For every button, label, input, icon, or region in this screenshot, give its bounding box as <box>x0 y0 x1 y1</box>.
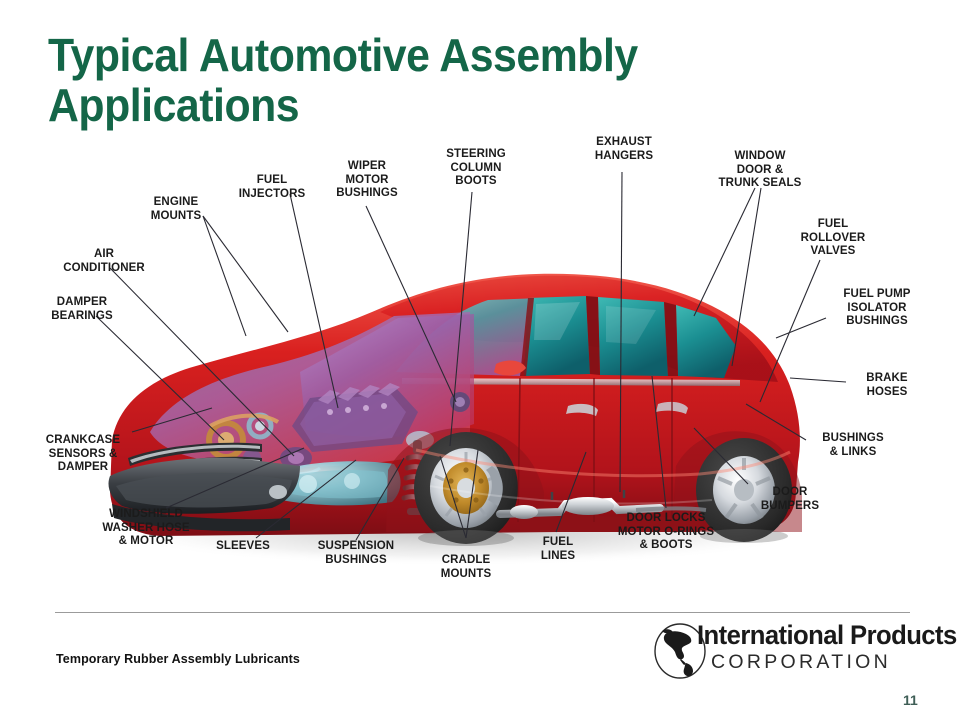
callout-steering-column-boots: STEERING COLUMN BOOTS <box>428 148 524 189</box>
callout-fuel-lines: FUEL LINES <box>528 536 588 563</box>
callout-suspension-bushings: SUSPENSION BUSHINGS <box>306 540 406 567</box>
logo-company-subtitle: CORPORATION <box>711 651 923 673</box>
company-logo: International Products CORPORATION <box>653 620 921 682</box>
callout-air-conditioner: AIR CONDITIONER <box>50 248 158 275</box>
page-number: 11 <box>903 692 918 708</box>
callout-crankcase-sensors-damper: CRANKCASE SENSORS & DAMPER <box>32 434 134 475</box>
callout-fuel-pump-isolator-bushings: FUEL PUMP ISOLATOR BUSHINGS <box>826 288 928 329</box>
callout-windshield-washer-hose-motor: WINDSHIELD WASHER HOSE & MOTOR <box>86 508 206 549</box>
logo-company-name: International Products <box>697 620 912 650</box>
footer-divider <box>55 612 910 613</box>
callout-exhaust-hangers: EXHAUST HANGERS <box>578 136 670 163</box>
fog-lamp <box>269 485 287 499</box>
callout-brake-hoses: BRAKE HOSES <box>848 372 926 399</box>
resonator <box>510 505 538 519</box>
callout-window-door-trunk-seals: WINDOW DOOR & TRUNK SEALS <box>700 150 820 191</box>
callout-door-locks-motor-orings-boots: DOOR LOCKS MOTOR O-RINGS & BOOTS <box>598 512 734 553</box>
callout-door-bumpers: DOOR BUMPERS <box>750 486 830 513</box>
callout-sleeves: SLEEVES <box>206 540 280 554</box>
logo-wordmark: International Products CORPORATION <box>697 620 923 673</box>
callout-engine-mounts: ENGINE MOUNTS <box>136 196 216 223</box>
callout-bushings-links: BUSHINGS & LINKS <box>808 432 898 459</box>
front-wheel <box>414 432 518 544</box>
callout-fuel-rollover-valves: FUEL ROLLOVER VALVES <box>790 218 876 259</box>
callout-cradle-mounts: CRADLE MOUNTS <box>426 554 506 581</box>
callout-damper-bearings: DAMPER BEARINGS <box>38 296 126 323</box>
callout-fuel-injectors: FUEL INJECTORS <box>224 174 320 201</box>
callout-wiper-motor-bushings: WIPER MOTOR BUSHINGS <box>318 160 416 201</box>
footer-note: Temporary Rubber Assembly Lubricants <box>56 652 300 666</box>
slide-canvas: Typical Automotive Assembly Applications <box>0 0 960 717</box>
automotive-diagram: ENGINE MOUNTS FUEL INJECTORS WIPER MOTOR… <box>0 140 960 600</box>
fuel-line <box>636 509 706 511</box>
page-title: Typical Automotive Assembly Applications <box>48 30 755 130</box>
